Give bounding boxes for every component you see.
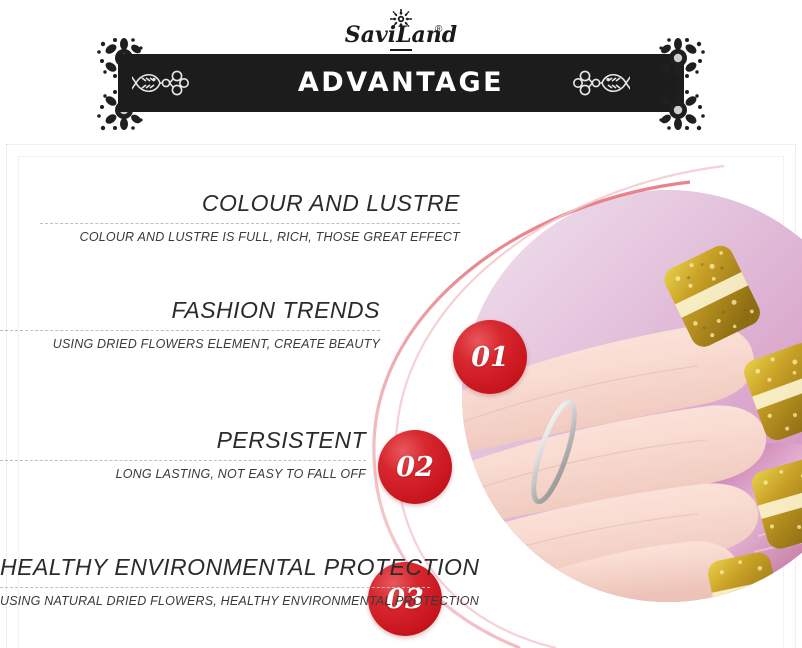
feature-title: COLOUR AND LUSTRE [40,190,460,216]
feature-divider [0,330,380,331]
feature-subtitle: LONG LASTING, NOT EASY TO FALL OFF [0,466,366,482]
fish-ornament-icon [132,54,190,112]
feature-title: FASHION TRENDS [0,297,380,323]
page-header: SaviLand ® [0,0,802,142]
feature-subtitle: USING DRIED FLOWERS ELEMENT, CREATE BEAU… [0,336,380,352]
feature-number: 02 [378,430,452,504]
feature-divider [0,460,366,461]
feature-title: PERSISTENT [0,427,366,453]
advantage-banner: ADVANTAGE [62,32,740,136]
advantage-panel: COLOUR AND LUSTRE COLOUR AND LUSTRE IS F… [0,142,802,648]
feature-subtitle: USING NATURAL DRIED FLOWERS, HEALTHY ENV… [0,593,430,609]
feature-divider [0,587,430,588]
feature-subtitle: COLOUR AND LUSTRE IS FULL, RICH, THOSE G… [40,229,460,245]
floral-corner-icon [656,32,718,136]
feature-number: 01 [453,320,527,394]
feature-badge-02[interactable]: 02 [378,430,452,504]
fish-ornament-icon [572,54,630,112]
feature-divider [40,223,460,224]
feature-title: HEALTHY ENVIRONMENTAL PROTECTION [0,554,430,580]
feature-badge-01[interactable]: 01 [453,320,527,394]
